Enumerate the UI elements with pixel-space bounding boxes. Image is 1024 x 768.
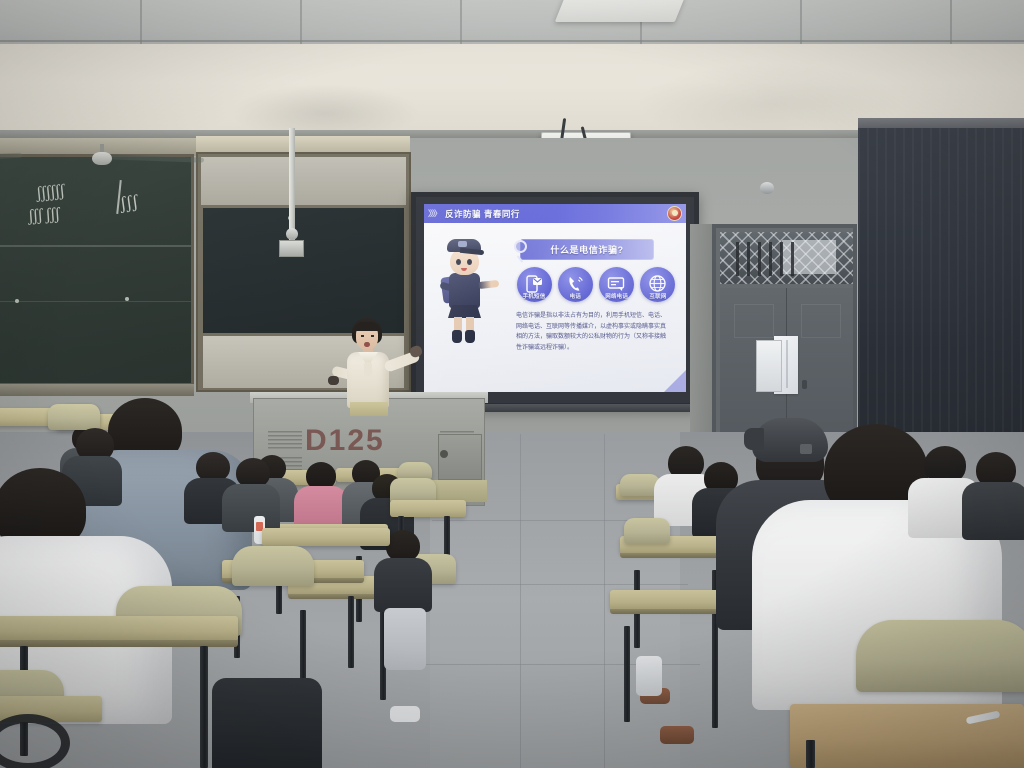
chair [48, 404, 100, 430]
channel-phone: 电话 [557, 267, 593, 311]
fraud-channel-icons: 手机短信 电话 [516, 267, 676, 311]
ceiling-fan-icon [92, 152, 112, 165]
slide-headline: 什么是电信诈骗? [550, 243, 623, 256]
desk [0, 616, 238, 642]
dome-camera-icon [760, 182, 774, 194]
backpack [212, 678, 322, 768]
slide-title: 反诈防骗 青春同行 [445, 208, 520, 220]
slide-corner-decoration [664, 370, 686, 392]
slide-content: 什么是电信诈骗? 手机短信 [424, 223, 686, 392]
classroom-photo-scene: ʃʃʃʃʃʃ ʃʃʃ ʃʃʃ ʃʃʃ 〉〉〉〉 反诈防骗 青春同行 [0, 0, 1024, 768]
channel-sms-label: 手机短信 [516, 292, 552, 300]
desk [390, 500, 466, 517]
transom-window [720, 232, 853, 284]
channel-internet-label: 互联网 [640, 292, 676, 300]
podium-knob[interactable] [440, 450, 448, 458]
fluorescent-light-fixture [555, 0, 686, 22]
chalk-tray [0, 384, 194, 396]
police-emblem-icon [667, 206, 682, 221]
desk [610, 590, 730, 610]
blackout-curtain [858, 128, 1024, 458]
chair [856, 620, 1024, 692]
shoe [390, 706, 420, 722]
desk [262, 528, 390, 546]
cartoon-police-officer-icon [438, 237, 494, 345]
channel-internet: 互联网 [640, 267, 676, 311]
door-side-wall [690, 224, 714, 440]
double-door[interactable] [712, 224, 857, 440]
door-handle[interactable] [802, 380, 807, 389]
channel-voip: 网络电话 [599, 267, 635, 311]
channel-sms: 手机短信 [516, 267, 552, 311]
slide-surface: 〉〉〉〉 反诈防骗 青春同行 [424, 204, 686, 392]
blackboard-left [0, 154, 194, 386]
chair [232, 546, 314, 586]
room-number-label: D125 [305, 424, 385, 458]
magnifier-icon [514, 240, 527, 253]
channel-voip-label: 网络电话 [599, 292, 635, 300]
slide-paragraph: 电信诈骗是指以非法占有为目的，利用手机短信、电话、网络电话、互联网等传播媒介，以… [516, 311, 666, 353]
cap-strap [800, 444, 812, 454]
cap-brim [744, 428, 764, 450]
camera-icon [279, 240, 304, 257]
student-legs [384, 608, 426, 670]
slide-headline-pill: 什么是电信诈骗? [520, 239, 654, 260]
camera-joint [286, 228, 298, 240]
shoe [660, 726, 694, 744]
chevron-right-icon: 〉〉〉〉 [428, 208, 440, 219]
student-legs [636, 656, 662, 696]
slide-title-bar: 〉〉〉〉 反诈防骗 青春同行 [424, 204, 686, 223]
projection-screen[interactable]: 〉〉〉〉 反诈防骗 青春同行 [411, 192, 699, 408]
camera-pole [289, 128, 295, 240]
presenter [330, 318, 420, 410]
chair [624, 518, 670, 544]
channel-phone-label: 电话 [557, 292, 593, 300]
wall-mounted-box [756, 340, 782, 392]
